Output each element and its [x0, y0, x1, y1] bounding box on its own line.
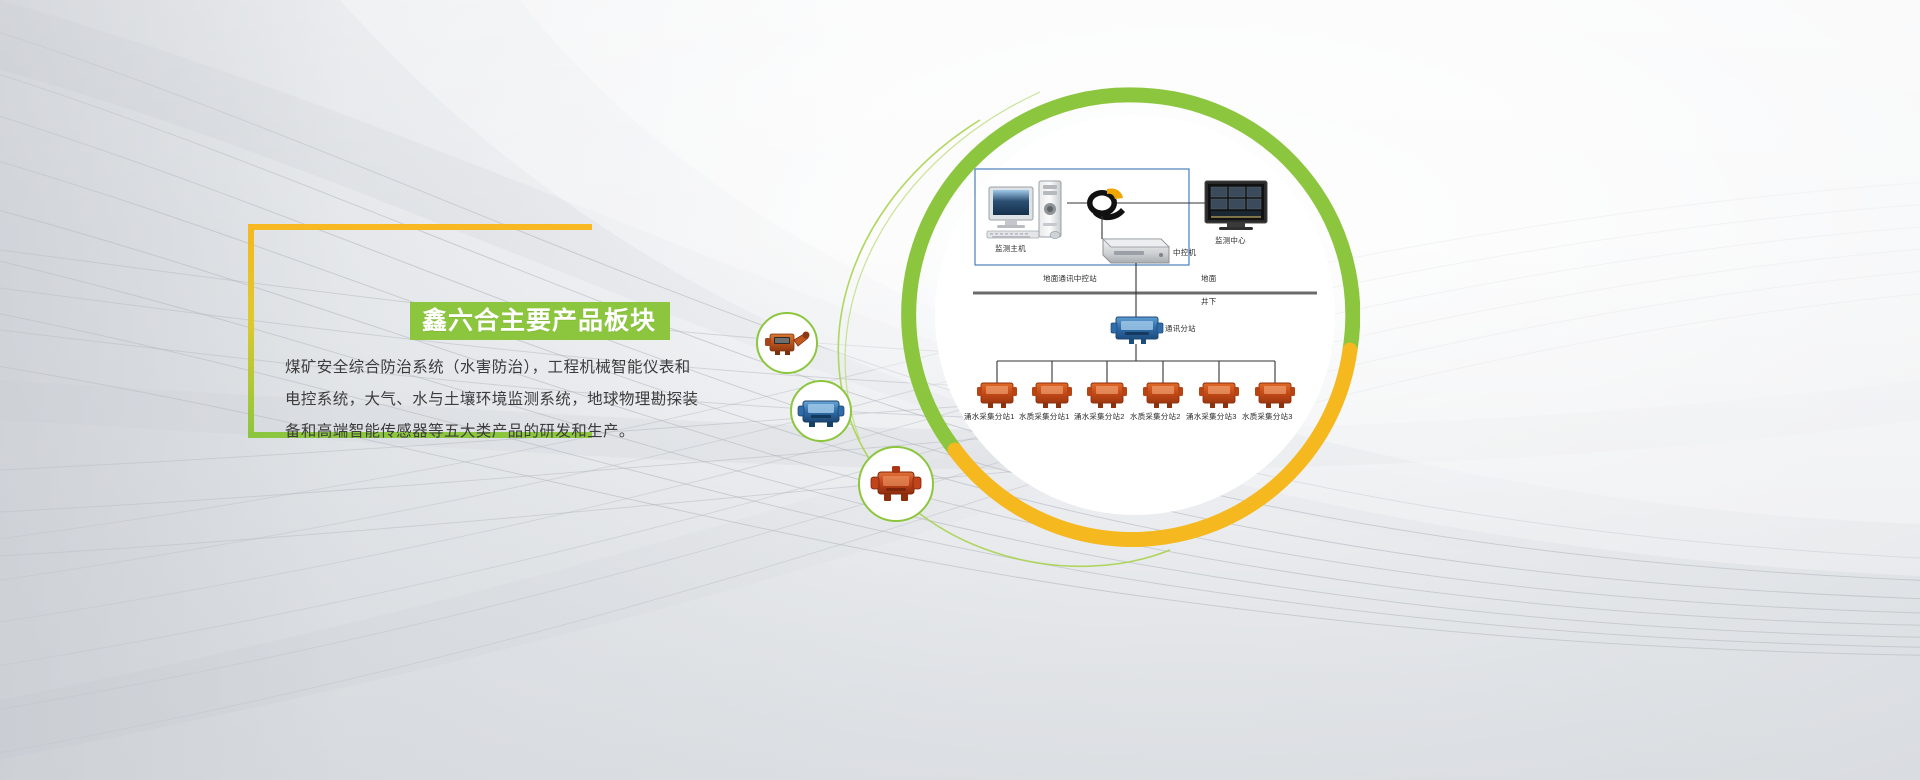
product-bubble-sensor[interactable]	[756, 312, 818, 374]
label-station-1: 涌水采集分站1	[964, 411, 1015, 422]
label-surface: 地面	[1201, 273, 1216, 284]
body-line-3: 备和高端智能传感器等五大类产品的研发和生产。	[285, 416, 715, 448]
panel-frame-top-edge	[248, 224, 592, 230]
body-line-1: 煤矿安全综合防治系统（水害防治），工程机械智能仪表和	[285, 352, 715, 384]
label-underground: 井下	[1201, 296, 1216, 307]
red-valve-device-icon	[860, 448, 932, 520]
panel-frame-left-edge	[248, 224, 254, 438]
product-bubble-red-valve[interactable]	[858, 446, 934, 522]
communication-substation-icon	[1111, 317, 1163, 344]
panel-title-band: 鑫六合主要产品板块	[410, 302, 670, 340]
internet-cloud-icon	[1087, 188, 1125, 220]
label-substation: 通讯分站	[1165, 323, 1196, 334]
control-box-icon	[1103, 239, 1169, 263]
label-station-4: 水质采集分站2	[1130, 411, 1181, 422]
product-bubble-blue-box[interactable]	[790, 380, 852, 442]
blue-control-box-icon	[792, 382, 850, 440]
label-monitoring-host: 监测主机	[995, 243, 1026, 254]
system-architecture-graphic: 监测主机 监测中心 中控机 地面通讯中控站 地面 井下 通讯分站 涌水采集分站1…	[740, 50, 1360, 580]
label-monitoring-center: 监测中心	[1215, 235, 1246, 246]
desktop-computer-icon	[987, 181, 1061, 239]
mine-water-monitoring-diagram: 监测主机 监测中心 中控机 地面通讯中控站 地面 井下 通讯分站 涌水采集分站1…	[955, 165, 1335, 465]
bus-branches	[997, 361, 1275, 383]
product-summary-panel: 鑫六合主要产品板块 煤矿安全综合防治系统（水害防治），工程机械智能仪表和 电控系…	[248, 224, 598, 440]
orange-sensor-device-icon	[758, 314, 816, 372]
label-station-3: 涌水采集分站2	[1074, 411, 1125, 422]
label-station-2: 水质采集分站1	[1019, 411, 1070, 422]
panel-body-text: 煤矿安全综合防治系统（水害防治），工程机械智能仪表和 电控系统，大气、水与土壤环…	[285, 352, 715, 448]
label-station-5: 涌水采集分站3	[1186, 411, 1237, 422]
label-surface-station: 地面通讯中控站	[1043, 273, 1097, 284]
label-controller: 中控机	[1173, 247, 1196, 258]
body-line-2: 电控系统，大气、水与土壤环境监测系统，地球物理勘探装	[285, 384, 715, 416]
page-title: 鑫六合主要产品板块	[422, 309, 656, 334]
collection-station-icons	[977, 383, 1295, 408]
label-station-6: 水质采集分站3	[1242, 411, 1293, 422]
monitor-wall-icon	[1205, 181, 1267, 230]
